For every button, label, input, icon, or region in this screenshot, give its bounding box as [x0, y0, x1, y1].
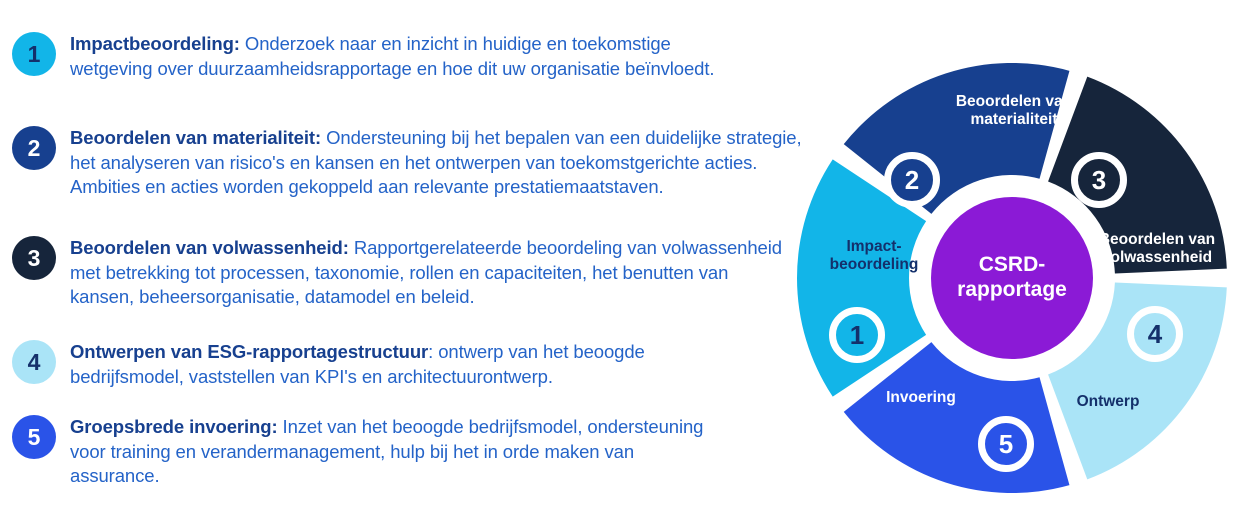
step-description: Ontwerpen van ESG-rapportagestructuur: o… [70, 340, 752, 389]
step-badge-number: 4 [28, 351, 41, 374]
step-description: Impactbeoordeling: Onderzoek naar en inz… [70, 32, 752, 81]
step-badge-number: 3 [28, 247, 41, 270]
step-item-3[interactable]: 3 Beoordelen van volwassenheid: Rapportg… [12, 236, 782, 310]
step-title: Beoordelen van volwassenheid: [70, 237, 349, 258]
step-description: Beoordelen van materialiteit: Ondersteun… [70, 126, 802, 200]
steps-list: 1 Impactbeoordeling: Onderzoek naar en i… [0, 0, 820, 516]
node-badge-number: 1 [850, 320, 864, 351]
step-item-4[interactable]: 4 Ontwerpen van ESG-rapportagestructuur:… [12, 340, 752, 389]
step-title: Impactbeoordeling: [70, 33, 240, 54]
node-badge-5[interactable]: 5 [978, 416, 1034, 472]
node-badge-number: 5 [999, 429, 1013, 460]
step-badge-2: 2 [12, 126, 56, 170]
step-description: Groepsbrede invoering: Inzet van het beo… [70, 415, 712, 489]
step-badge-number: 2 [28, 137, 41, 160]
step-badge-number: 1 [28, 43, 41, 66]
node-badge-3[interactable]: 3 [1071, 152, 1127, 208]
step-badge-5: 5 [12, 415, 56, 459]
csrd-cycle-diagram: Impact-beoordeling Beoordelen van materi… [797, 45, 1227, 511]
step-title: Ontwerpen van ESG-rapportagestructuur [70, 341, 428, 362]
step-badge-3: 3 [12, 236, 56, 280]
center-circle [931, 197, 1093, 359]
step-badge-1: 1 [12, 32, 56, 76]
step-item-5[interactable]: 5 Groepsbrede invoering: Inzet van het b… [12, 415, 712, 489]
node-badge-4[interactable]: 4 [1127, 306, 1183, 362]
node-badge-2[interactable]: 2 [884, 152, 940, 208]
step-title: Groepsbrede invoering: [70, 416, 278, 437]
node-badge-number: 2 [905, 165, 919, 196]
node-badge-1[interactable]: 1 [829, 307, 885, 363]
node-badge-number: 3 [1092, 165, 1106, 196]
step-title: Beoordelen van materialiteit: [70, 127, 321, 148]
step-item-1[interactable]: 1 Impactbeoordeling: Onderzoek naar en i… [12, 32, 752, 81]
infographic-root: 1 Impactbeoordeling: Onderzoek naar en i… [0, 0, 1240, 516]
step-badge-4: 4 [12, 340, 56, 384]
step-item-2[interactable]: 2 Beoordelen van materialiteit: Onderste… [12, 126, 802, 200]
step-description: Beoordelen van volwassenheid: Rapportger… [70, 236, 782, 310]
node-badge-number: 4 [1148, 319, 1162, 350]
step-badge-number: 5 [28, 426, 41, 449]
